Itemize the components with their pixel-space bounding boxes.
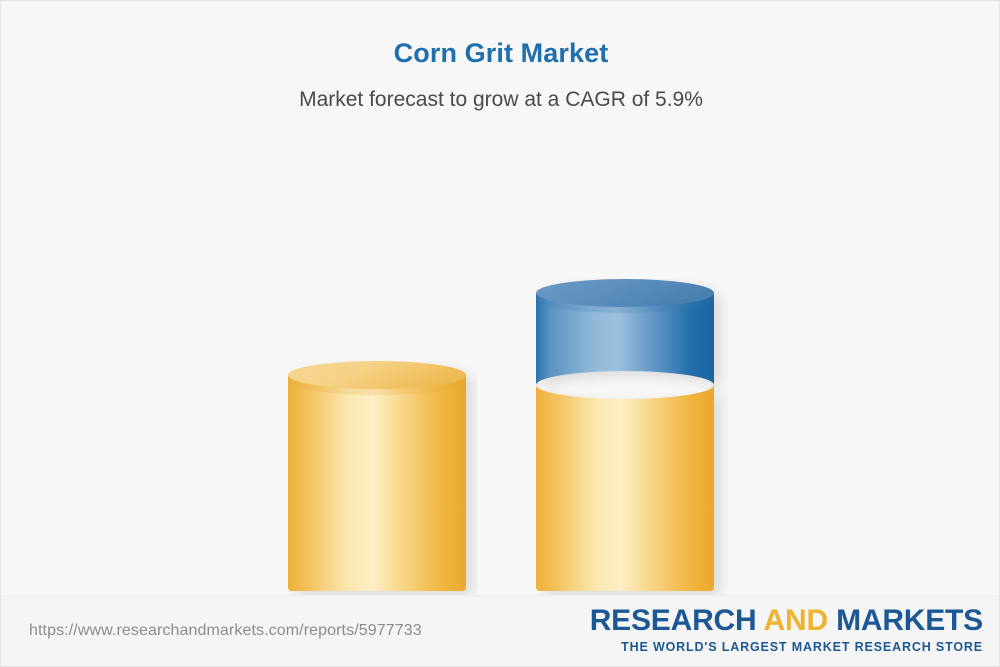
brand-name: RESEARCH AND MARKETS: [590, 605, 983, 637]
bar-group-2024: USD 1.28 Billion: [288, 91, 466, 601]
cylinder-bar-2030: [536, 279, 728, 601]
footer-bar: https://www.researchandmarkets.com/repor…: [1, 595, 1000, 666]
brand-research-text: RESEARCH: [590, 604, 757, 637]
source-url[interactable]: https://www.researchandmarkets.com/repor…: [29, 622, 422, 640]
brand-and-text: AND: [764, 604, 828, 637]
brand-tagline: THE WORLD'S LARGEST MARKET RESEARCH STOR…: [590, 637, 983, 655]
brand-logo: RESEARCH AND MARKETS THE WORLD'S LARGEST…: [590, 605, 983, 655]
infographic-chart: Corn Grit Market Market forecast to grow…: [0, 0, 1000, 667]
brand-markets-text: MARKETS: [836, 604, 983, 637]
bar-group-2030: USD 1.81 Billion: [536, 91, 715, 601]
cylinder-bar-2024: [288, 361, 478, 601]
plot-area: USD 1.28 Billion: [1, 1, 1000, 601]
